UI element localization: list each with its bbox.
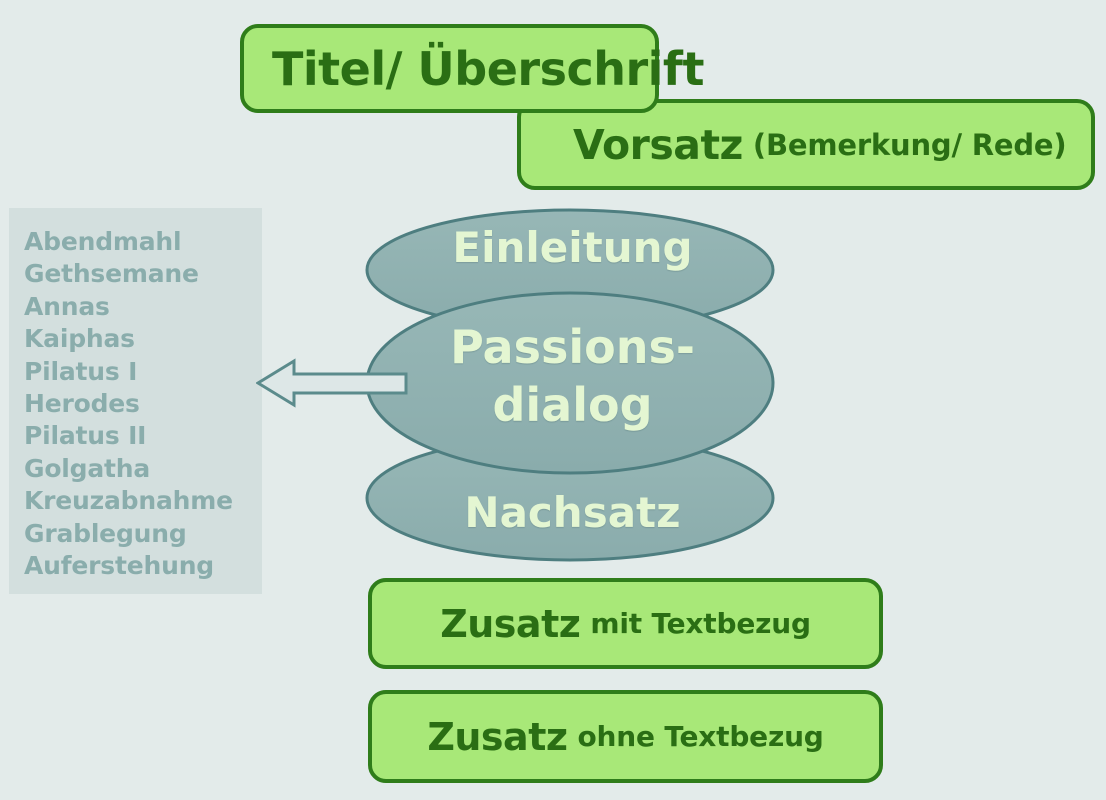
zusatz-mit-label: Zusatz — [440, 602, 580, 646]
list-item: Abendmahl — [24, 226, 264, 258]
ellipse-label-einleitung: Einleitung — [370, 223, 775, 272]
ellipse-label-passionsdialog: Passions- dialog — [370, 318, 775, 434]
list-item: Kreuzabnahme — [24, 485, 264, 517]
passionsdialog-line-2: dialog — [370, 376, 775, 434]
list-item: Grablegung — [24, 518, 264, 550]
list-item: Annas — [24, 291, 264, 323]
list-item: Golgatha — [24, 453, 264, 485]
list-item: Kaiphas — [24, 323, 264, 355]
list-item: Pilatus I — [24, 356, 264, 388]
titel-ueberschrift-box[interactable]: Titel/ Überschrift — [240, 24, 659, 113]
scene-list: Abendmahl Gethsemane Annas Kaiphas Pilat… — [24, 226, 264, 582]
ellipse-label-nachsatz: Nachsatz — [370, 488, 775, 537]
zusatz-mit-sublabel: mit Textbezug — [590, 607, 810, 640]
list-item: Auferstehung — [24, 550, 264, 582]
zusatz-ohne-textbezug-box[interactable]: Zusatz ohne Textbezug — [368, 690, 883, 783]
list-item: Pilatus II — [24, 420, 264, 452]
passionsdialog-line-1: Passions- — [370, 318, 775, 376]
scene-list-panel: Abendmahl Gethsemane Annas Kaiphas Pilat… — [9, 208, 262, 594]
diagram-canvas: Abendmahl Gethsemane Annas Kaiphas Pilat… — [0, 0, 1106, 800]
titel-label: Titel/ Überschrift — [272, 42, 704, 96]
arrow-left-icon — [256, 357, 408, 409]
zusatz-mit-textbezug-box[interactable]: Zusatz mit Textbezug — [368, 578, 883, 669]
vorsatz-sublabel: (Bemerkung/ Rede) — [753, 128, 1067, 162]
zusatz-ohne-sublabel: ohne Textbezug — [577, 720, 823, 753]
list-item: Gethsemane — [24, 258, 264, 290]
zusatz-ohne-label: Zusatz — [427, 715, 567, 759]
vorsatz-label: Vorsatz — [573, 121, 743, 169]
list-item: Herodes — [24, 388, 264, 420]
